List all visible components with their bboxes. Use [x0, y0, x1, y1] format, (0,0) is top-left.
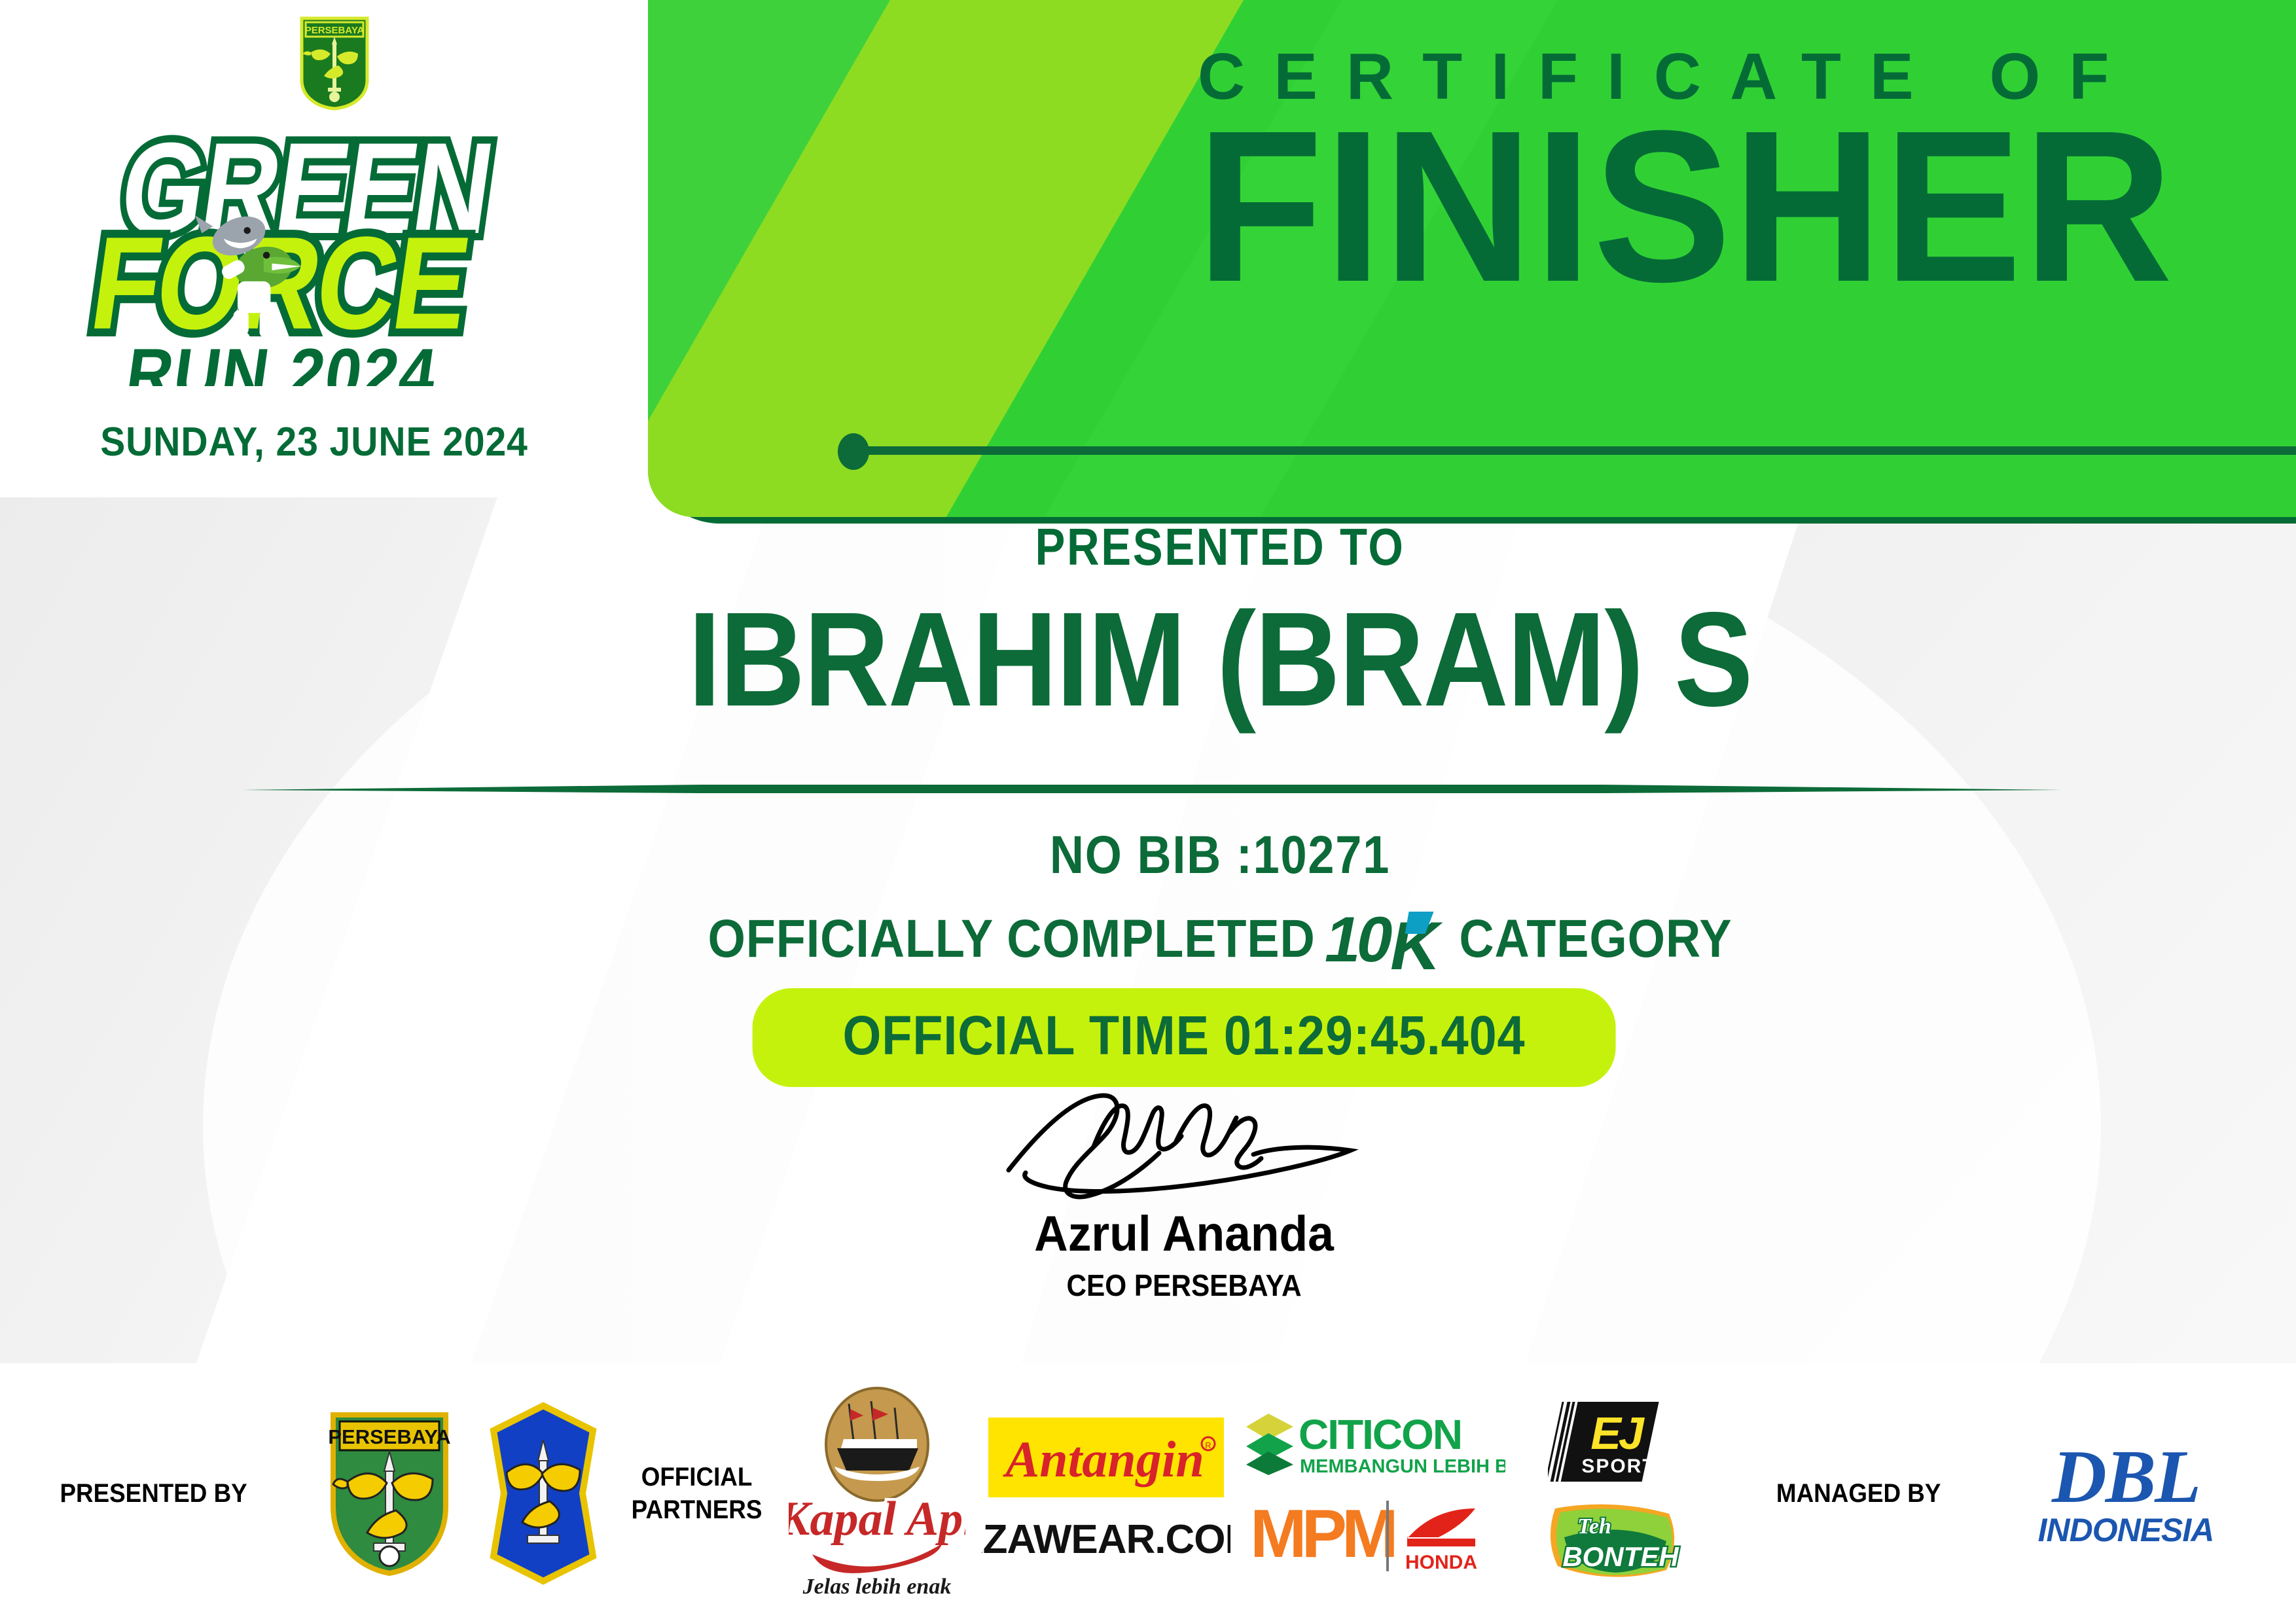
partner-stack-ej-bonteh: EJ SPORT Teh BONTEH [1512, 1400, 1721, 1586]
svg-text:Kapal Api: Kapal Api [789, 1492, 965, 1546]
logo-antangin: Antangin R [988, 1418, 1224, 1501]
presented-by-slot: PRESENTED BY [0, 1477, 308, 1510]
svg-text:10: 10 [1322, 906, 1398, 972]
logo-ej-sport: EJ SPORT [1548, 1400, 1685, 1486]
svg-text:RUN 2024: RUN 2024 [121, 334, 442, 386]
official-partners-slot: OFFICIAL PARTNERS [615, 1461, 779, 1526]
sponsor-footer: PRESENTED BY PERSEBAYA [0, 1363, 2296, 1623]
svg-text:BONTEH: BONTEH [1562, 1541, 1679, 1572]
svg-text:EJ: EJ [1590, 1408, 1645, 1459]
category-line: OFFICIALLY COMPLETED 10 K CATEGORY [187, 906, 2253, 972]
partner-stack-citicon-mpm: CITICON MEMBANGUN LEBIH BAIK MPM HONDA [1237, 1408, 1512, 1578]
logo-surabaya-city-crest [471, 1402, 615, 1585]
event-date: SUNDAY, 23 JUNE 2024 [92, 419, 537, 465]
bib-number: NO BIB :10271 [209, 825, 2230, 886]
logo-dbl-indonesia: DBL INDONESIA [1996, 1431, 2258, 1556]
logo-mpm-honda: MPM HONDA [1244, 1497, 1505, 1578]
certificate-body: PRESENTED TO IBRAHIM (BRAM) S NO BIB :10… [0, 517, 2296, 1361]
presented-to-label: PRESENTED TO [233, 517, 2208, 577]
partner-stack-antangin-azawear: Antangin R AZAWEAR.COM [975, 1418, 1237, 1569]
logo-kapal-api: Kapal Api Jelas lebih enak [779, 1385, 975, 1601]
handwritten-signature-icon [975, 1086, 1393, 1211]
completed-suffix: CATEGORY [1459, 908, 1732, 970]
svg-text:Antangin: Antangin [1002, 1431, 1204, 1488]
svg-text:SPORT: SPORT [1581, 1455, 1655, 1477]
logo-teh-bonteh: Teh BONTEH [1545, 1498, 1689, 1586]
logo-azawear: AZAWEAR.COM [982, 1512, 1230, 1569]
svg-text:PERSEBAYA: PERSEBAYA [328, 1425, 450, 1448]
svg-text:R: R [1205, 1440, 1211, 1450]
official-time-badge: OFFICIAL TIME 01:29:45.404 [753, 988, 1616, 1087]
official-partners-line2: PARTNERS [632, 1493, 762, 1526]
svg-text:HONDA: HONDA [1405, 1552, 1477, 1573]
svg-text:Jelas lebih enak: Jelas lebih enak [802, 1575, 952, 1599]
managed-by-slot: MANAGED BY [1721, 1477, 1996, 1510]
decorative-dot-line [838, 432, 2296, 474]
signatory-name: Azrul Ananda [950, 1205, 1418, 1262]
managed-by-label: MANAGED BY [1776, 1477, 1941, 1510]
presented-by-label: PRESENTED BY [60, 1477, 247, 1510]
signatory-title: CEO PERSEBAYA [955, 1268, 1412, 1303]
logo-citicon: CITICON MEMBANGUN LEBIH BAIK [1244, 1408, 1505, 1485]
certificate-canvas: PERSEBAYA GREEN [0, 0, 2296, 1623]
signature-block: Azrul Ananda CEO PERSEBAYA [935, 1086, 1433, 1303]
completed-prefix: OFFICIALLY COMPLETED [708, 908, 1315, 970]
svg-text:Teh: Teh [1577, 1514, 1611, 1539]
official-partners-label: OFFICIAL PARTNERS [632, 1461, 762, 1526]
green-force-run-logo: GREEN FORCE [72, 111, 556, 386]
official-time-text: OFFICIAL TIME 01:29:45.404 [843, 1004, 1526, 1067]
certificate-title-line2: FINISHER [1196, 98, 2174, 314]
name-underline-rule [242, 779, 2062, 798]
recipient-name: IBRAHIM (BRAM) S [209, 589, 2230, 730]
svg-text:DBL: DBL [2051, 1435, 2200, 1519]
category-10k-badge-icon: 10 K [1322, 906, 1453, 972]
logo-persebaya-crest: PERSEBAYA [308, 1408, 471, 1578]
svg-text:AZAWEAR.COM: AZAWEAR.COM [982, 1517, 1230, 1562]
svg-text:MEMBANGUN LEBIH BAIK: MEMBANGUN LEBIH BAIK [1300, 1456, 1505, 1477]
svg-text:INDONESIA: INDONESIA [2038, 1512, 2214, 1548]
svg-text:MPM: MPM [1250, 1497, 1394, 1572]
official-partners-line1: OFFICIAL [632, 1461, 762, 1493]
svg-text:CITICON: CITICON [1299, 1411, 1462, 1458]
persebaya-crest-header-icon: PERSEBAYA [298, 14, 371, 111]
svg-text:PERSEBAYA: PERSEBAYA [305, 25, 365, 36]
